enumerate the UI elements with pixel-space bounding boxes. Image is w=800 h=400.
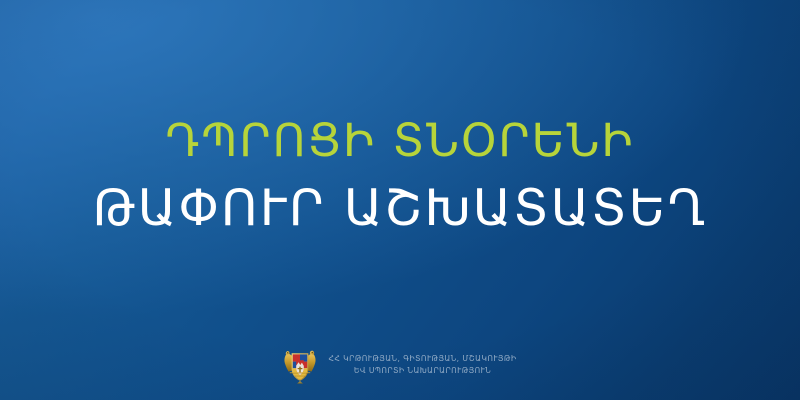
ministry-name: ՀՀ ԿՐԹՈՒԹՅԱՆ, ԳԻՏՈՒԹՅԱՆ, ՄՇԱԿՈՒՅԹԻ ԵՎ ՍՊ… [328, 354, 516, 375]
ministry-name-line-1: ՀՀ ԿՐԹՈՒԹՅԱՆ, ԳԻՏՈՒԹՅԱՆ, ՄՇԱԿՈՒՅԹԻ [328, 354, 516, 364]
announcement-banner: ԴՊՐՈՑԻ ՏՆՕՐԵՆԻ ԹԱՓՈՒՐ ԱՇԽԱՏԱՏԵՂ [0, 0, 800, 400]
ministry-name-line-2: ԵՎ ՍՊՈՐՏԻ ՆԱԽԱՐԱՐՈՒԹՅՈՒՆ [354, 366, 491, 376]
ministry-footer: ՀՀ ԿՐԹՈՒԹՅԱՆ, ԳԻՏՈՒԹՅԱՆ, ՄՇԱԿՈՒՅԹԻ ԵՎ ՍՊ… [0, 338, 800, 392]
armenian-coat-of-arms-icon [283, 345, 317, 385]
headline-block: ԴՊՐՈՑԻ ՏՆՕՐԵՆԻ ԹԱՓՈՒՐ ԱՇԽԱՏԱՏԵՂ [0, 118, 800, 233]
headline-line-1: ԴՊՐՈՑԻ ՏՆՕՐԵՆԻ [0, 118, 800, 183]
headline-line-2: ԹԱՓՈՒՐ ԱՇԽԱՏԱՏԵՂ [0, 183, 800, 233]
